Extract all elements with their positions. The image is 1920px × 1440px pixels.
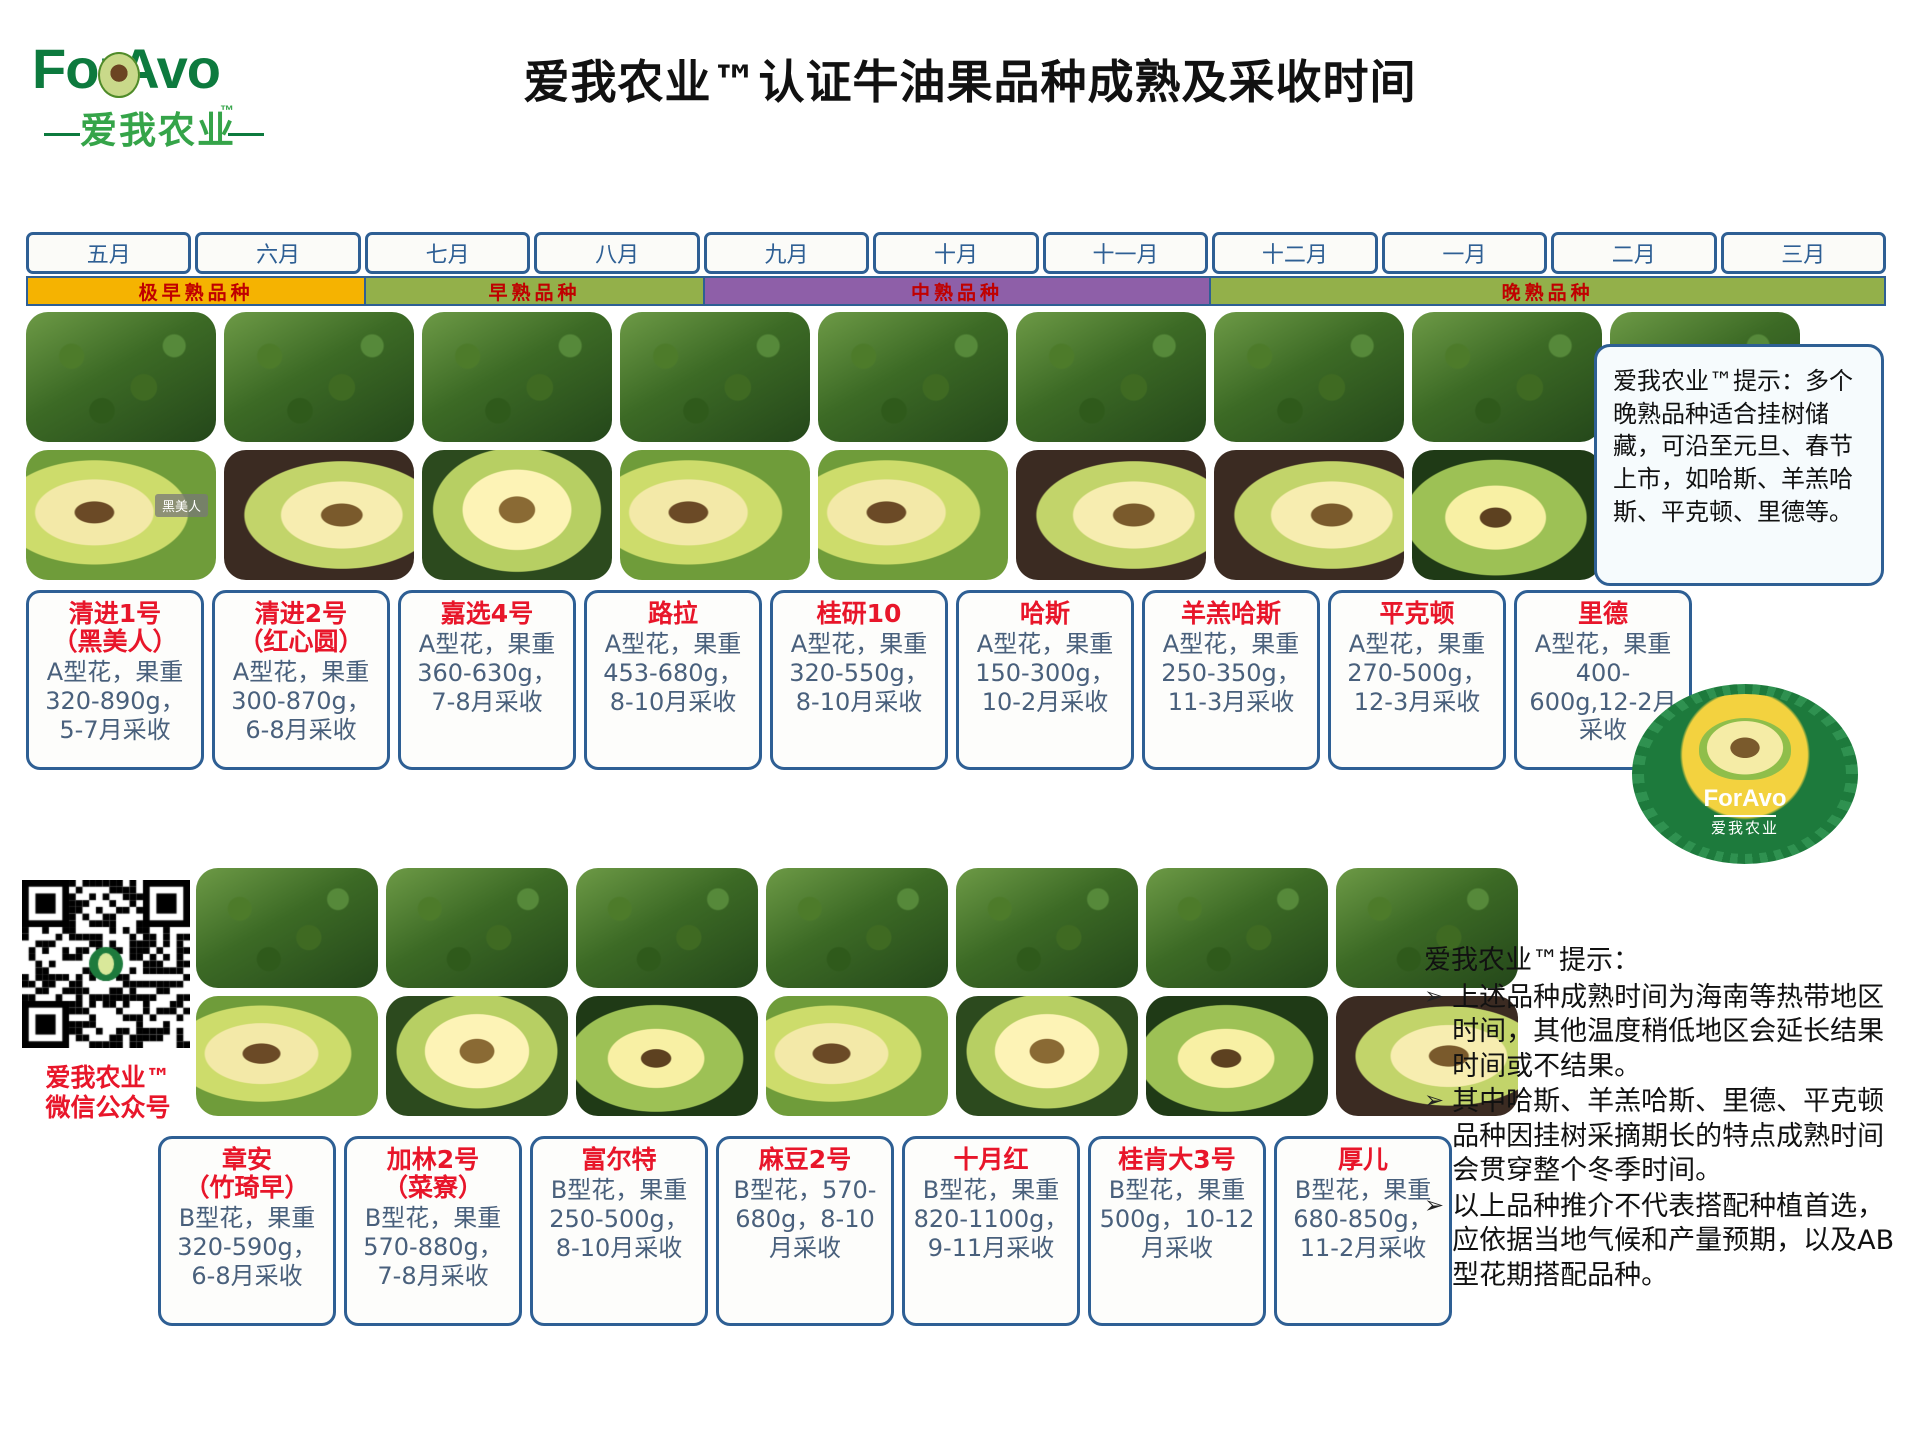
page-header: ForAvo 爱我农业 ™ 爱我农业™认证牛油果品种成熟及采收时间	[0, 0, 1920, 165]
tree-photo-shiyuehong	[956, 868, 1138, 988]
tree-photo-madou2	[766, 868, 948, 988]
logo-chinese-name: 爱我农业	[80, 100, 236, 154]
tree-photo-qingjin2	[224, 312, 414, 442]
variety-description: A型花，果重250-350g，11-3月采收	[1150, 630, 1312, 716]
variety-card[interactable]: 清进1号 （黑美人）A型花，果重320-890g，5-7月采收	[26, 590, 204, 770]
qr-caption-line2: 微信公众号	[22, 1093, 194, 1123]
tip-text: 其中哈斯、羊羔哈斯、里德、平克顿品种因挂树采摘期长的特点成熟时间会贯穿整个冬季时…	[1452, 1085, 1910, 1189]
month-cell-8: 十二月	[1212, 232, 1377, 274]
month-cell-9: 一月	[1382, 232, 1547, 274]
variety-card[interactable]: 路拉A型花，果重453-680g，8-10月采收	[584, 590, 762, 770]
month-label: 十二月	[1262, 237, 1328, 269]
fruit-photo-qingjin1: 黑美人	[26, 450, 216, 580]
tree-photo-jiaxuan4	[422, 312, 612, 442]
maturity-band-row: 极早熟品种早熟品种中熟品种晚熟品种	[26, 276, 1886, 306]
tree-photo-lamb-hass	[1214, 312, 1404, 442]
fruit-photo-zhangan	[196, 996, 378, 1116]
arrow-bullet-icon: ➢	[1424, 1085, 1444, 1189]
tip-item: ➢其中哈斯、羊羔哈斯、里德、平克顿品种因挂树采摘期长的特点成熟时间会贯穿整个冬季…	[1424, 1085, 1910, 1189]
avocado-icon	[98, 52, 140, 98]
month-label: 六月	[256, 237, 300, 269]
month-label: 三月	[1781, 237, 1825, 269]
bottom-tips-list: ➢上述品种成熟时间为海南等热带地区时间，其他温度稍低地区会延长结果时间或不结果。…	[1424, 981, 1910, 1294]
seal-face: ForAvo 爱我农业	[1644, 694, 1846, 854]
variety-description: A型花，果重320-890g，5-7月采收	[34, 658, 196, 744]
month-cell-3: 七月	[365, 232, 530, 274]
tree-photo-fuerte	[576, 868, 758, 988]
variety-card[interactable]: 哈斯A型花，果重150-300g，10-2月采收	[956, 590, 1134, 770]
qr-code-icon[interactable]	[22, 880, 190, 1048]
month-cell-10: 二月	[1551, 232, 1716, 274]
variety-name: 路拉	[648, 600, 698, 628]
variety-card[interactable]: 桂研10A型花，果重320-550g，8-10月采收	[770, 590, 948, 770]
month-label: 十月	[934, 237, 978, 269]
month-cell-7: 十一月	[1043, 232, 1208, 274]
fruit-photo-shiyuehong	[956, 996, 1138, 1116]
maturity-band-3: 中熟品种	[705, 278, 1212, 304]
variety-description: A型花，果重270-500g，12-3月采收	[1336, 630, 1498, 716]
maturity-band-label: 晚熟品种	[1502, 278, 1594, 305]
fruit-photo-qingjin2	[224, 450, 414, 580]
variety-card[interactable]: 羊羔哈斯A型花，果重250-350g，11-3月采收	[1142, 590, 1320, 770]
variety-card[interactable]: 清进2号 （红心圆）A型花，果重300-870g，6-8月采收	[212, 590, 390, 770]
tree-photo-guikenda3	[1146, 868, 1328, 988]
variety-name: 章安 （竹琦早）	[184, 1146, 309, 1202]
variety-description: A型花，果重453-680g，8-10月采收	[592, 630, 754, 716]
variety-name: 里德	[1578, 600, 1628, 628]
variety-description: A型花，果重360-630g，7-8月采收	[406, 630, 568, 716]
variety-name: 富尔特	[581, 1146, 656, 1174]
row2-variety-card-row: 章安 （竹琦早）B型花，果重320-590g，6-8月采收加林2号 （菜寮）B型…	[158, 1136, 1452, 1326]
page-title: 爱我农业™认证牛油果品种成熟及采收时间	[380, 46, 1560, 112]
fruit-photo-lula	[620, 450, 810, 580]
month-cell-5: 九月	[704, 232, 869, 274]
photo-caption: 黑美人	[155, 494, 208, 517]
variety-card[interactable]: 平克顿A型花，果重270-500g，12-3月采收	[1328, 590, 1506, 770]
fruit-photo-guikenda3	[1146, 996, 1328, 1116]
logo-rule-left	[44, 133, 80, 136]
variety-description: A型花，果重150-300g，10-2月采收	[964, 630, 1126, 716]
arrow-bullet-icon: ➢	[1424, 1190, 1444, 1294]
maturity-band-label: 中熟品种	[911, 278, 1003, 305]
variety-name: 十月红	[953, 1146, 1028, 1174]
late-variety-tip-box: 爱我农业™提示：多个晚熟品种适合挂树储藏，可沿至元旦、春节上市，如哈斯、羊羔哈斯…	[1594, 344, 1884, 586]
maturity-band-4: 晚熟品种	[1211, 278, 1884, 304]
variety-description: A型花，果重320-550g，8-10月采收	[778, 630, 940, 716]
qr-caption: 爱我农业™ 微信公众号	[22, 1063, 194, 1123]
maturity-band-label: 早熟品种	[489, 278, 581, 305]
maturity-band-label: 极早熟品种	[139, 278, 254, 305]
fruit-photo-pinkerton	[1412, 450, 1602, 580]
maturity-band-2: 早熟品种	[366, 278, 704, 304]
month-label: 七月	[426, 237, 470, 269]
fruit-photo-fuerte	[576, 996, 758, 1116]
row2-fruit-photo-strip	[196, 996, 1518, 1116]
month-cell-11: 三月	[1721, 232, 1886, 274]
tree-photo-guiyan10	[818, 312, 1008, 442]
variety-description: B型花，果重570-880g，7-8月采收	[352, 1204, 514, 1290]
bottom-tips-block: 爱我农业™提示： ➢上述品种成熟时间为海南等热带地区时间，其他温度稍低地区会延长…	[1424, 944, 1910, 1294]
variety-card[interactable]: 嘉选4号A型花，果重360-630g，7-8月采收	[398, 590, 576, 770]
maturity-band-1: 极早熟品种	[28, 278, 366, 304]
tree-photo-pinkerton	[1412, 312, 1602, 442]
brand-logo: ForAvo 爱我农业 ™	[24, 28, 294, 148]
arrow-bullet-icon: ➢	[1424, 981, 1444, 1085]
variety-description: A型花，果重300-870g，6-8月采收	[220, 658, 382, 744]
fruit-photo-guiyan10	[818, 450, 1008, 580]
variety-card[interactable]: 加林2号 （菜寮）B型花，果重570-880g，7-8月采收	[344, 1136, 522, 1326]
row1-variety-card-row: 清进1号 （黑美人）A型花，果重320-890g，5-7月采收清进2号 （红心圆…	[26, 590, 1692, 770]
variety-name: 加林2号 （菜寮）	[383, 1146, 483, 1202]
fruit-photo-jialin2	[386, 996, 568, 1116]
row1-fruit-photo-strip: 黑美人	[26, 450, 1800, 580]
month-header-row: 五月六月七月八月九月十月十一月十二月一月二月三月	[26, 232, 1886, 274]
month-label: 五月	[87, 237, 131, 269]
month-cell-6: 十月	[873, 232, 1038, 274]
tree-photo-hass	[1016, 312, 1206, 442]
month-cell-2: 六月	[195, 232, 360, 274]
variety-name: 平克顿	[1379, 600, 1454, 628]
variety-name: 厚儿	[1338, 1146, 1388, 1174]
variety-name: 羊羔哈斯	[1181, 600, 1281, 628]
variety-name: 清进1号 （黑美人）	[52, 600, 177, 656]
fruit-photo-hass	[1016, 450, 1206, 580]
month-cell-4: 八月	[534, 232, 699, 274]
fruit-photo-lamb-hass	[1214, 450, 1404, 580]
month-label: 八月	[595, 237, 639, 269]
qr-caption-line1: 爱我农业™	[22, 1063, 194, 1093]
variety-card[interactable]: 桂肯大3号B型花，果重500g，10-12月采收	[1088, 1136, 1266, 1326]
month-label: 十一月	[1092, 237, 1158, 269]
variety-name: 桂肯大3号	[1118, 1146, 1235, 1174]
month-cell-1: 五月	[26, 232, 191, 274]
variety-card[interactable]: 麻豆2号B型花，570-680g，8-10月采收	[716, 1136, 894, 1326]
variety-name: 麻豆2号	[759, 1146, 851, 1174]
month-label: 九月	[765, 237, 809, 269]
tip-item: ➢以上品种推介不代表搭配种植首选，应依据当地气候和产量预期，以及AB型花期搭配品…	[1424, 1190, 1910, 1294]
variety-card[interactable]: 十月红B型花，果重820-1100g，9-11月采收	[902, 1136, 1080, 1326]
variety-card[interactable]: 章安 （竹琦早）B型花，果重320-590g，6-8月采收	[158, 1136, 336, 1326]
variety-description: B型花，果重680-850g，11-2月采收	[1282, 1176, 1444, 1262]
tree-photo-jialin2	[386, 868, 568, 988]
variety-name: 桂研10	[817, 600, 902, 628]
variety-name: 清进2号 （红心圆）	[238, 600, 363, 656]
variety-card[interactable]: 富尔特B型花，果重250-500g，8-10月采收	[530, 1136, 708, 1326]
variety-description: B型花，570-680g，8-10月采收	[724, 1176, 886, 1262]
bottom-tips-heading: 爱我农业™提示：	[1424, 944, 1910, 979]
variety-description: B型花，果重320-590g，6-8月采收	[166, 1204, 328, 1290]
wechat-qr-block: 爱我农业™ 微信公众号	[22, 880, 194, 1123]
tip-text: 上述品种成熟时间为海南等热带地区时间，其他温度稍低地区会延长结果时间或不结果。	[1452, 981, 1910, 1085]
tip-text: 以上品种推介不代表搭配种植首选，应依据当地气候和产量预期，以及AB型花期搭配品种…	[1452, 1190, 1910, 1294]
tree-photo-qingjin1	[26, 312, 216, 442]
tree-photo-zhangan	[196, 868, 378, 988]
month-label: 一月	[1442, 237, 1486, 269]
variety-name: 嘉选4号	[441, 600, 533, 628]
brand-seal: ForAvo 爱我农业	[1632, 684, 1858, 864]
variety-description: B型花，果重820-1100g，9-11月采收	[910, 1176, 1072, 1262]
variety-description: B型花，果重250-500g，8-10月采收	[538, 1176, 700, 1262]
seal-wordmark: ForAvo	[1703, 785, 1786, 813]
variety-description: B型花，果重500g，10-12月采收	[1096, 1176, 1258, 1262]
tip-item: ➢上述品种成熟时间为海南等热带地区时间，其他温度稍低地区会延长结果时间或不结果。	[1424, 981, 1910, 1085]
seal-chinese-name: 爱我农业	[1711, 817, 1779, 838]
logo-trademark-icon: ™	[220, 102, 234, 118]
month-label: 二月	[1612, 237, 1656, 269]
seal-avocado-icon	[1699, 718, 1791, 780]
variety-name: 哈斯	[1020, 600, 1070, 628]
fruit-photo-jiaxuan4	[422, 450, 612, 580]
row1-tree-photo-strip	[26, 312, 1800, 442]
fruit-photo-madou2	[766, 996, 948, 1116]
tree-photo-lula	[620, 312, 810, 442]
row2-tree-photo-strip	[196, 868, 1518, 988]
